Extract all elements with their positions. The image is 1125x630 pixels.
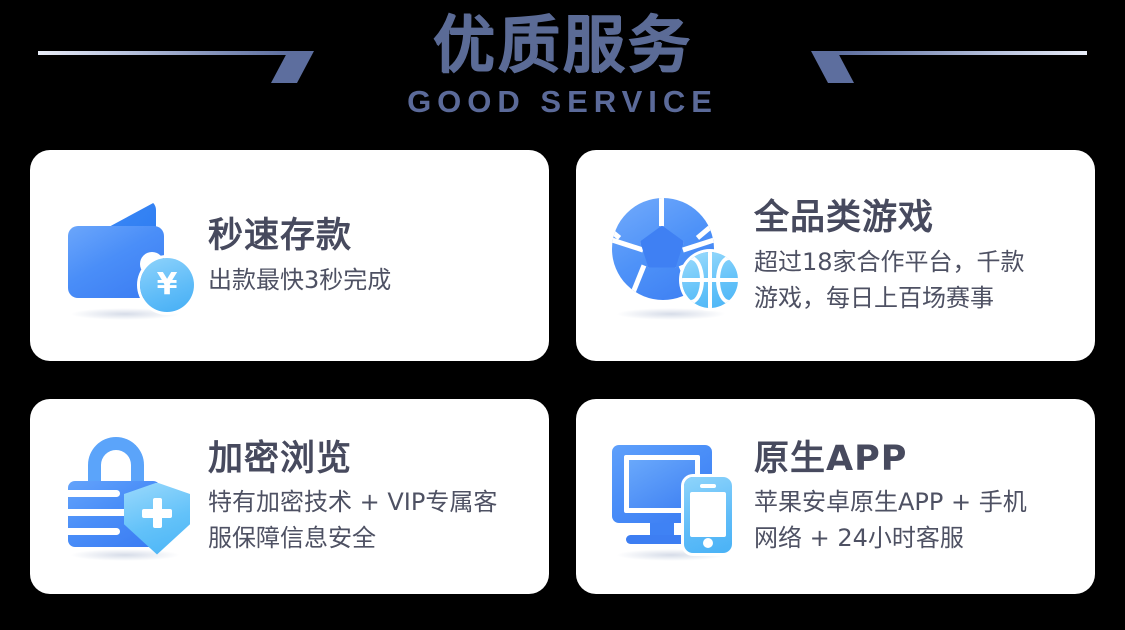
card-text-block: 原生APP 苹果安卓原生APP + 手机 网络 + 24小时客服 (754, 438, 1027, 556)
smartphone-icon (684, 477, 732, 553)
basketball-seam (716, 256, 738, 304)
card-subtitle: 特有加密技术 + VIP专属客 服保障信息安全 (208, 484, 497, 556)
ball-icon-shadow (616, 308, 726, 320)
phone-screen (690, 492, 726, 537)
lock-icon-shadow (70, 549, 180, 561)
card-title: 全品类游戏 (754, 196, 1025, 240)
plus-icon (142, 498, 172, 528)
card-text-block: 全品类游戏 超过18家合作平台，千款 游戏，每日上百场赛事 (754, 196, 1025, 316)
service-card-all-game-categories[interactable]: 全品类游戏 超过18家合作平台，千款 游戏，每日上百场赛事 (576, 150, 1095, 361)
card-title: 原生APP (754, 438, 1027, 480)
page-title-en: GOOD SERVICE (407, 84, 718, 120)
card-subtitle: 出款最快3秒完成 (208, 262, 391, 298)
monitor-phone-icon (608, 431, 740, 563)
yen-symbol: ¥ (157, 270, 178, 300)
card-text-block: 加密浏览 特有加密技术 + VIP专属客 服保障信息安全 (208, 438, 497, 556)
service-card-native-app[interactable]: 原生APP 苹果安卓原生APP + 手机 网络 + 24小时客服 (576, 399, 1095, 594)
good-service-page: 优质服务 GOOD SERVICE ¥ 秒速存款 出款最快3秒完成 (0, 0, 1125, 630)
card-subtitle: 苹果安卓原生APP + 手机 网络 + 24小时客服 (754, 484, 1027, 556)
card-title: 秒速存款 (208, 214, 391, 258)
page-title-cn: 优质服务 (432, 8, 692, 82)
ball-seam (659, 198, 664, 226)
lock-stripe (68, 490, 120, 497)
lock-shield-icon (62, 431, 194, 563)
card-subtitle: 超过18家合作平台，千款 游戏，每日上百场赛事 (754, 244, 1025, 316)
lock-stripe (68, 528, 120, 535)
ball-pentagon (640, 226, 684, 268)
card-text-block: 秒速存款 出款最快3秒完成 (208, 214, 391, 298)
yen-coin-icon: ¥ (140, 258, 194, 312)
phone-speaker (700, 484, 716, 488)
ball-seam (612, 236, 644, 252)
card-title: 加密浏览 (208, 438, 497, 480)
ball-seam (612, 214, 621, 240)
lock-stripe (68, 509, 132, 516)
wallet-icon: ¥ (62, 190, 194, 322)
basketball-icon (682, 252, 738, 308)
page-header: 优质服务 GOOD SERVICE (0, 0, 1125, 140)
service-card-instant-deposit[interactable]: ¥ 秒速存款 出款最快3秒完成 (30, 150, 549, 361)
ball-seam (696, 214, 714, 240)
header-title-block: 优质服务 GOOD SERVICE (0, 8, 1125, 120)
service-card-encrypted-browsing[interactable]: 加密浏览 特有加密技术 + VIP专属客 服保障信息安全 (30, 399, 549, 594)
phone-home-button (703, 538, 713, 548)
ball-seam (627, 264, 647, 299)
soccer-basketball-icon (608, 190, 740, 322)
service-card-grid: ¥ 秒速存款 出款最快3秒完成 (30, 150, 1095, 594)
basketball-seam (682, 256, 704, 304)
